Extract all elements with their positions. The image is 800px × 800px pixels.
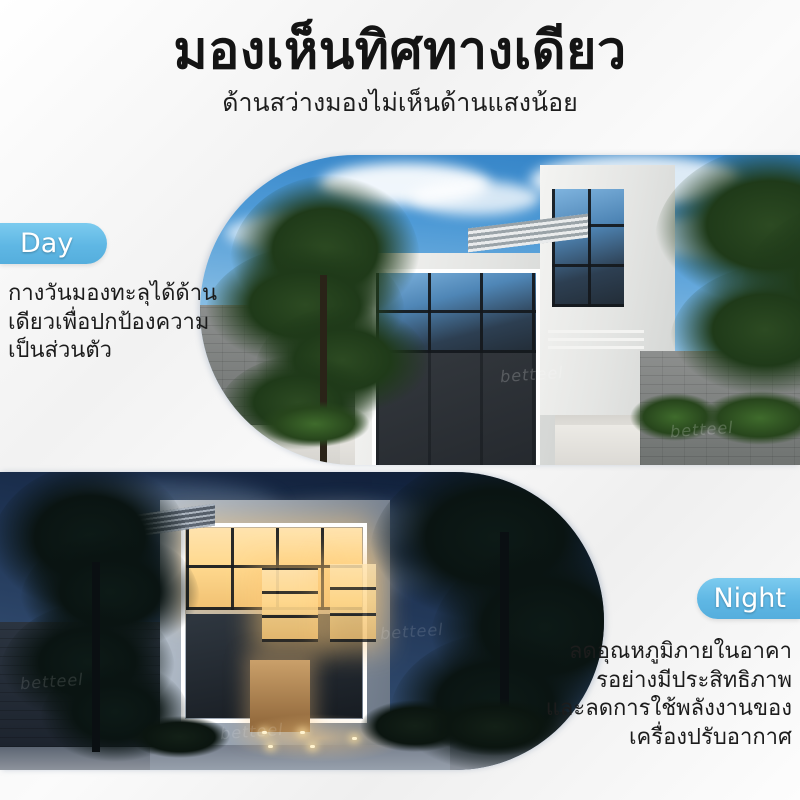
night-badge: Night bbox=[697, 578, 800, 619]
night-caption-line: ลดอุณหภูมิภายในอาคา bbox=[532, 638, 792, 667]
shrub bbox=[700, 391, 800, 445]
shrub bbox=[260, 401, 370, 447]
balcony-railing bbox=[548, 327, 644, 349]
night-caption: ลดอุณหภูมิภายในอาคา รอย่างมีประสิทธิภาพ … bbox=[532, 638, 792, 752]
day-caption-line: เป็นส่วนตัว bbox=[8, 337, 198, 366]
day-caption: กางวันมองทะลุได้ด้าน เดียวเพื่อปกป้องควา… bbox=[8, 280, 198, 366]
day-photo-panel: betteel betteel bbox=[200, 155, 800, 465]
page-subtitle: ด้านสว่างมองไม่เห็นด้านแสงน้อย bbox=[0, 87, 800, 118]
day-badge: Day bbox=[0, 223, 107, 264]
page-header: มองเห็นทิศทางเดียว ด้านสว่างมองไม่เห็นด้… bbox=[0, 0, 800, 140]
step-light bbox=[300, 731, 305, 734]
day-scene: betteel betteel bbox=[200, 155, 800, 465]
night-lit-window-right bbox=[330, 564, 376, 642]
shrub bbox=[130, 716, 230, 758]
glass-mullions-h bbox=[262, 568, 318, 642]
step-light bbox=[310, 745, 315, 748]
glass-mullions-h bbox=[330, 564, 376, 642]
glass-mullions-h bbox=[552, 189, 624, 307]
day-tower-window bbox=[552, 189, 624, 307]
night-caption-line: และลดการใช้พลังงานของ bbox=[532, 695, 792, 724]
day-badge-label: Day bbox=[20, 228, 73, 259]
night-lit-window-mid bbox=[262, 568, 318, 642]
night-scene: betteel betteel betteel bbox=[0, 472, 604, 770]
day-caption-line: เดียวเพื่อปกป้องความ bbox=[8, 309, 198, 338]
night-photo-panel: betteel betteel betteel bbox=[0, 472, 604, 770]
night-caption-line: เครื่องปรับอากาศ bbox=[532, 724, 792, 753]
night-caption-line: รอย่างมีประสิทธิภาพ bbox=[532, 667, 792, 696]
step-light bbox=[262, 731, 267, 734]
day-caption-line: กางวันมองทะลุได้ด้าน bbox=[8, 280, 198, 309]
step-light bbox=[352, 737, 357, 740]
step-light bbox=[268, 745, 273, 748]
page-title: มองเห็นทิศทางเดียว bbox=[0, 20, 800, 83]
night-badge-label: Night bbox=[713, 583, 786, 614]
cloud-shape bbox=[410, 181, 540, 215]
